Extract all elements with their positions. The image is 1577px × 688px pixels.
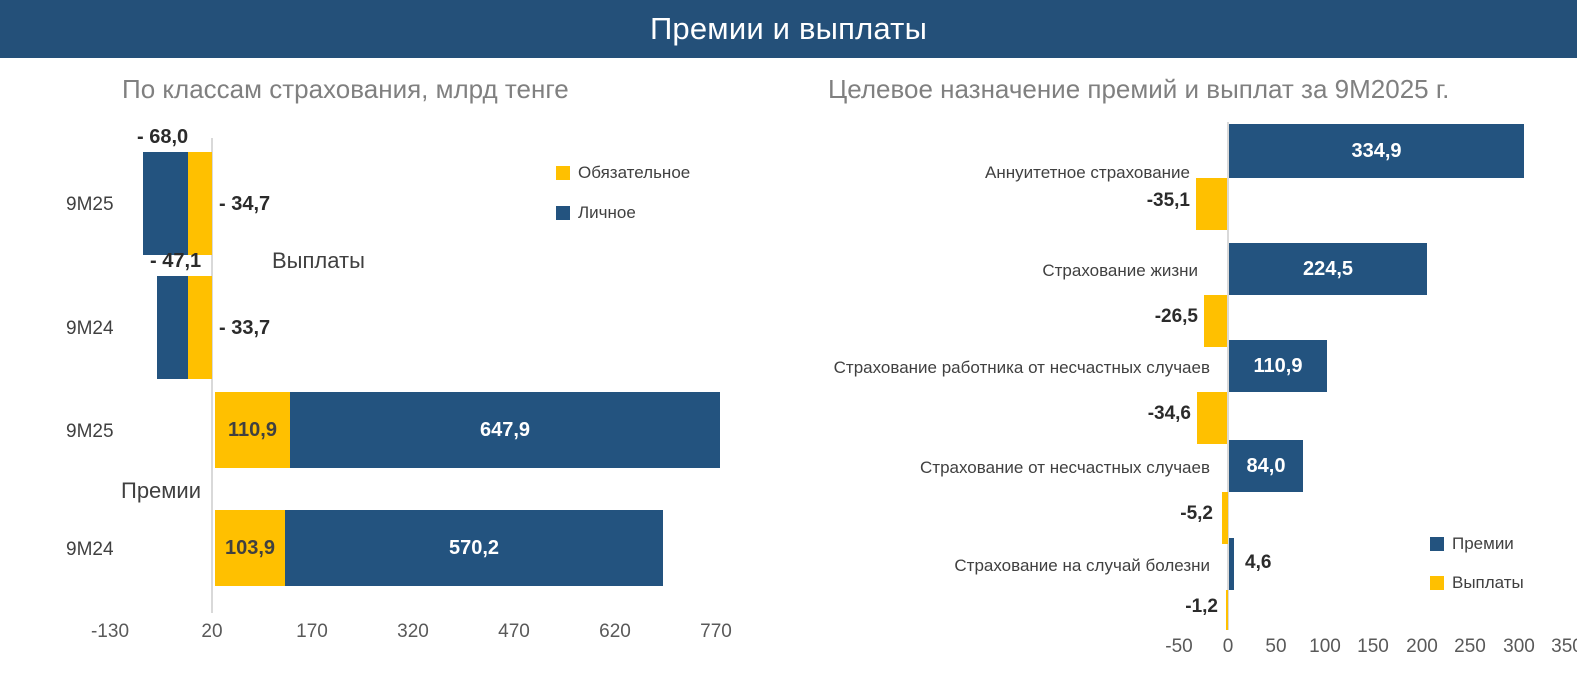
value-payout-9m25-mandatory: - 34,7 — [219, 193, 270, 216]
legend-label-personal: Личное — [578, 203, 636, 223]
cat-label-illness: Страхование на случай болезни — [790, 556, 1210, 576]
value-payout-9m24-mandatory: - 33,7 — [219, 317, 270, 340]
value-illness-payout: -1,2 — [1123, 596, 1218, 618]
legend-swatch-payouts — [1430, 576, 1444, 590]
legend-swatch-premiums — [1430, 537, 1444, 551]
right-chart: 334,9 Аннуитетное страхование -35,1 224,… — [790, 118, 1577, 678]
value-worker-accident-premium: 110,9 — [1229, 340, 1327, 392]
left-xtick-0: -130 — [70, 621, 150, 643]
right-chart-subtitle: Целевое назначение премий и выплат за 9М… — [828, 74, 1449, 105]
cat-label-annuity: Аннуитетное страхование — [790, 163, 1190, 183]
value-annuity-premium: 334,9 — [1229, 124, 1524, 178]
left-xtick-4: 470 — [474, 621, 554, 643]
bar-illness-payout — [1226, 590, 1228, 630]
cat-label-worker-accident: Страхование работника от несчастных случ… — [790, 358, 1210, 378]
bar-life-payout — [1204, 295, 1227, 347]
left-xtick-6: 770 — [676, 621, 756, 643]
value-premium-9m24-personal: 570,2 — [285, 510, 663, 586]
chart-page: Премии и выплаты По классам страхования,… — [0, 0, 1577, 688]
legend-label-payouts: Выплаты — [1452, 573, 1524, 593]
value-premium-9m25-mandatory: 110,9 — [215, 392, 290, 468]
bar-annuity-payout — [1196, 178, 1227, 230]
value-worker-accident-payout: -34,6 — [1091, 403, 1191, 425]
right-xtick-8: 350 — [1527, 636, 1577, 658]
page-title-bar: Премии и выплаты — [0, 0, 1577, 58]
group-label-payouts: Выплаты — [272, 248, 365, 274]
cat-label-accident: Страхование от несчастных случаев — [790, 458, 1210, 478]
legend-item-premiums[interactable]: Премии — [1430, 534, 1514, 554]
bar-payout-9m25-mandatory — [188, 152, 212, 255]
bar-accident-payout — [1222, 492, 1228, 544]
legend-swatch-mandatory — [556, 166, 570, 180]
left-xtick-1: 20 — [172, 621, 252, 643]
value-life-payout: -26,5 — [1098, 306, 1198, 328]
bar-payout-9m24-personal — [157, 276, 189, 379]
value-premium-9m24-mandatory: 103,9 — [215, 510, 285, 586]
group-label-premiums: Премии — [121, 478, 201, 504]
value-payout-9m25-personal: - 68,0 — [137, 126, 188, 149]
legend-label-premiums: Премии — [1452, 534, 1514, 554]
bar-illness-premium — [1229, 538, 1234, 590]
cat-label-life: Страхование жизни — [790, 261, 1198, 281]
value-payout-9m24-personal: - 47,1 — [150, 250, 201, 273]
left-chart-subtitle: По классам страхования, млрд тенге — [122, 74, 569, 105]
bar-payout-9m25-personal — [143, 152, 189, 255]
bar-worker-accident-payout — [1197, 392, 1227, 444]
cat-label-payout-9m25: 9М25 — [66, 194, 114, 216]
cat-label-premium-9m24: 9М24 — [66, 539, 114, 561]
legend-item-personal[interactable]: Личное — [556, 203, 636, 223]
cat-label-premium-9m25: 9М25 — [66, 421, 114, 443]
left-xtick-2: 170 — [272, 621, 352, 643]
page-title: Премии и выплаты — [0, 0, 1577, 58]
bar-payout-9m24-mandatory — [188, 276, 212, 379]
value-illness-premium: 4,6 — [1245, 552, 1271, 574]
left-xtick-5: 620 — [575, 621, 655, 643]
value-accident-premium: 84,0 — [1229, 440, 1303, 492]
cat-label-payout-9m24: 9М24 — [66, 318, 114, 340]
value-premium-9m25-personal: 647,9 — [290, 392, 720, 468]
legend-item-mandatory[interactable]: Обязательное — [556, 163, 690, 183]
value-life-premium: 224,5 — [1229, 243, 1427, 295]
value-accident-payout: -5,2 — [1118, 503, 1213, 525]
left-chart: - 68,0 - 34,7 9М25 - 47,1 - 33,7 9М24 Вы… — [0, 118, 800, 663]
value-annuity-payout: -35,1 — [1090, 190, 1190, 212]
legend-item-payouts[interactable]: Выплаты — [1430, 573, 1524, 593]
left-xtick-3: 320 — [373, 621, 453, 643]
legend-swatch-personal — [556, 206, 570, 220]
legend-label-mandatory: Обязательное — [578, 163, 690, 183]
